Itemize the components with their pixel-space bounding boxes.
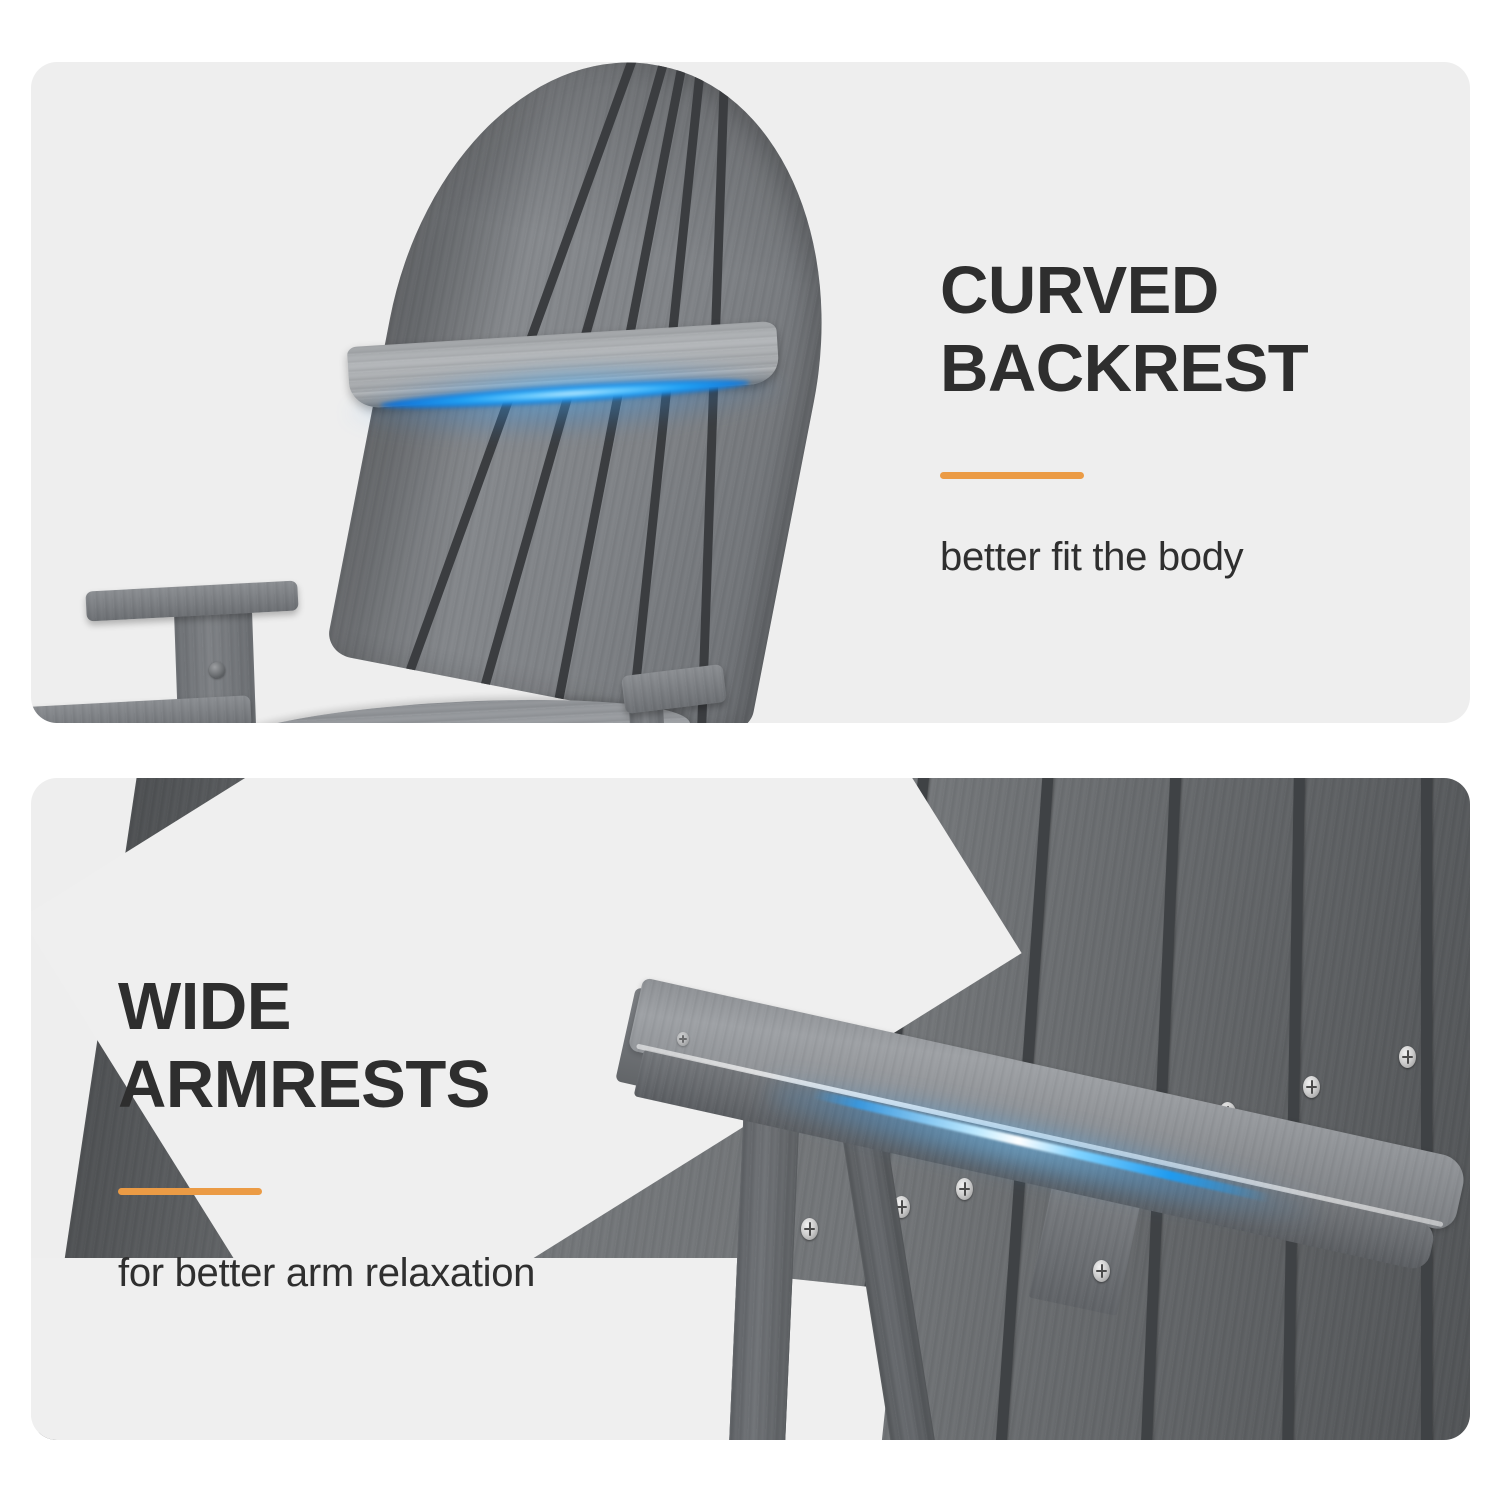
chair-armrest-upper <box>85 580 298 621</box>
chair-backrest-illustration <box>31 62 931 723</box>
feature-panel-curved-backrest: CURVED BACKREST better fit the body <box>31 62 1470 723</box>
phillips-screw <box>956 1178 973 1200</box>
feature-copy-curved-backrest: CURVED BACKREST better fit the body <box>940 252 1450 580</box>
armrest-bolt <box>209 662 225 678</box>
feature-panel-wide-armrests: WIDE ARMRESTS for better arm relaxation <box>31 778 1470 1440</box>
accent-divider <box>118 1188 262 1195</box>
phillips-screw <box>1399 1046 1416 1068</box>
phillips-screw <box>801 1218 818 1240</box>
panel-headline: WIDE ARMRESTS <box>118 968 678 1125</box>
panel-subline: for better arm relaxation <box>118 1251 678 1296</box>
phillips-screw <box>1093 1260 1110 1282</box>
chair-armrest-lower <box>31 695 252 723</box>
accent-divider <box>940 472 1084 479</box>
armrest-grain-texture <box>85 580 298 621</box>
armrest-grain-texture <box>31 695 252 723</box>
panel-headline: CURVED BACKREST <box>940 252 1450 409</box>
backrest-slat-gap <box>1421 778 1432 1440</box>
phillips-screw <box>1303 1076 1320 1098</box>
panel-subline: better fit the body <box>940 535 1450 580</box>
feature-copy-wide-armrests: WIDE ARMRESTS for better arm relaxation <box>118 968 678 1296</box>
phillips-screw <box>677 1032 689 1046</box>
product-feature-page: CURVED BACKREST better fit the body <box>0 0 1500 1500</box>
